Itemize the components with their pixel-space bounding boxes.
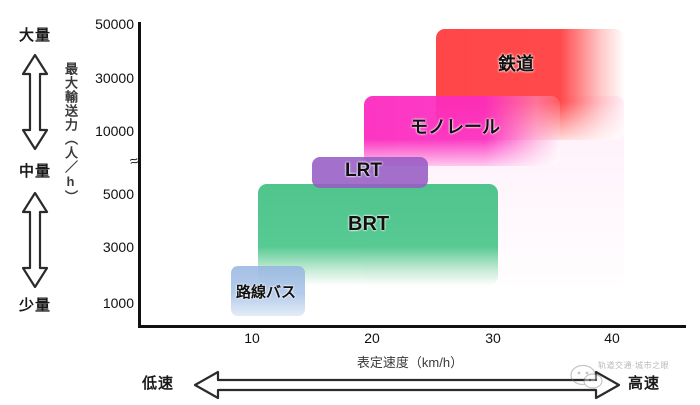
y-tick-label: 1000 [72,295,134,311]
x-tick-label: 10 [232,330,272,346]
volume-label-low: 少量 [4,294,66,315]
x-tick-label: 30 [473,330,513,346]
y-axis-line [138,22,141,328]
speed-range-arrow [192,370,622,405]
series-label-bus: 路線バス [236,281,296,302]
speed-label-low: 低速 [142,372,174,393]
volume-arrow-high-mid [20,52,50,157]
series-label-monorail: モノレール [410,113,500,139]
chart-canvas: 大量 中量 少量 最大輸送力（人／h） 50000 30000 10000 50… [0,0,700,403]
series-label-railway: 鉄道 [498,50,534,76]
x-tick-label: 20 [352,330,392,346]
y-tick-label: 10000 [72,123,134,139]
x-axis-line [138,325,686,328]
y-tick-label: 5000 [72,186,134,202]
y-tick-label: 30000 [72,70,134,86]
series-label-lrt: LRT [345,160,382,182]
y-tick-label: 3000 [72,239,134,255]
y-tick-label: 50000 [72,16,134,32]
series-label-brt: BRT [348,213,389,236]
volume-arrow-mid-low [20,190,50,295]
x-tick-label: 40 [592,330,632,346]
x-axis-title: 表定速度（km/h） [300,352,520,371]
speed-label-high: 高速 [628,372,660,393]
volume-label-high: 大量 [4,24,66,45]
